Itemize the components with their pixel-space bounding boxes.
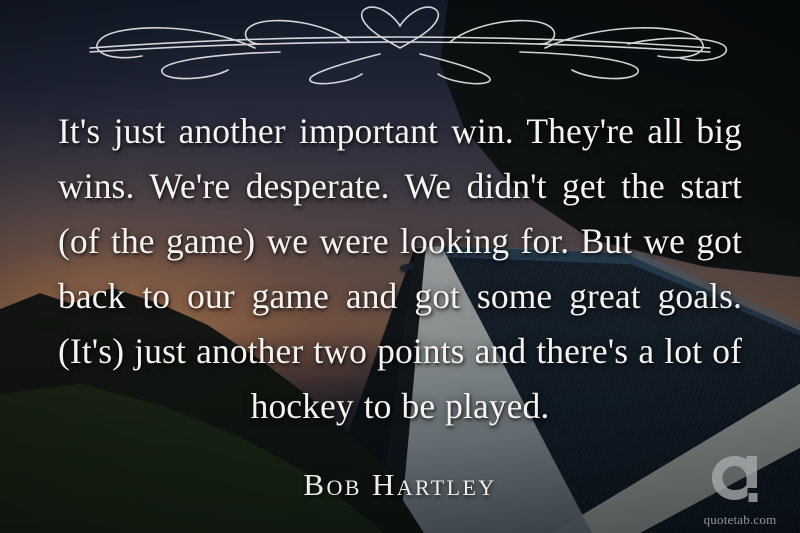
quotetab-logo-icon [711,454,769,512]
flourish-heart-divider-icon [50,4,750,86]
quote-poster: It's just another important win. They're… [0,0,800,533]
quote-author: Bob Hartley [0,466,800,504]
watermark[interactable]: quotetab.com [692,454,788,527]
watermark-site-label: quotetab.com [692,513,788,527]
quote-text: It's just another important win. They're… [58,104,742,434]
